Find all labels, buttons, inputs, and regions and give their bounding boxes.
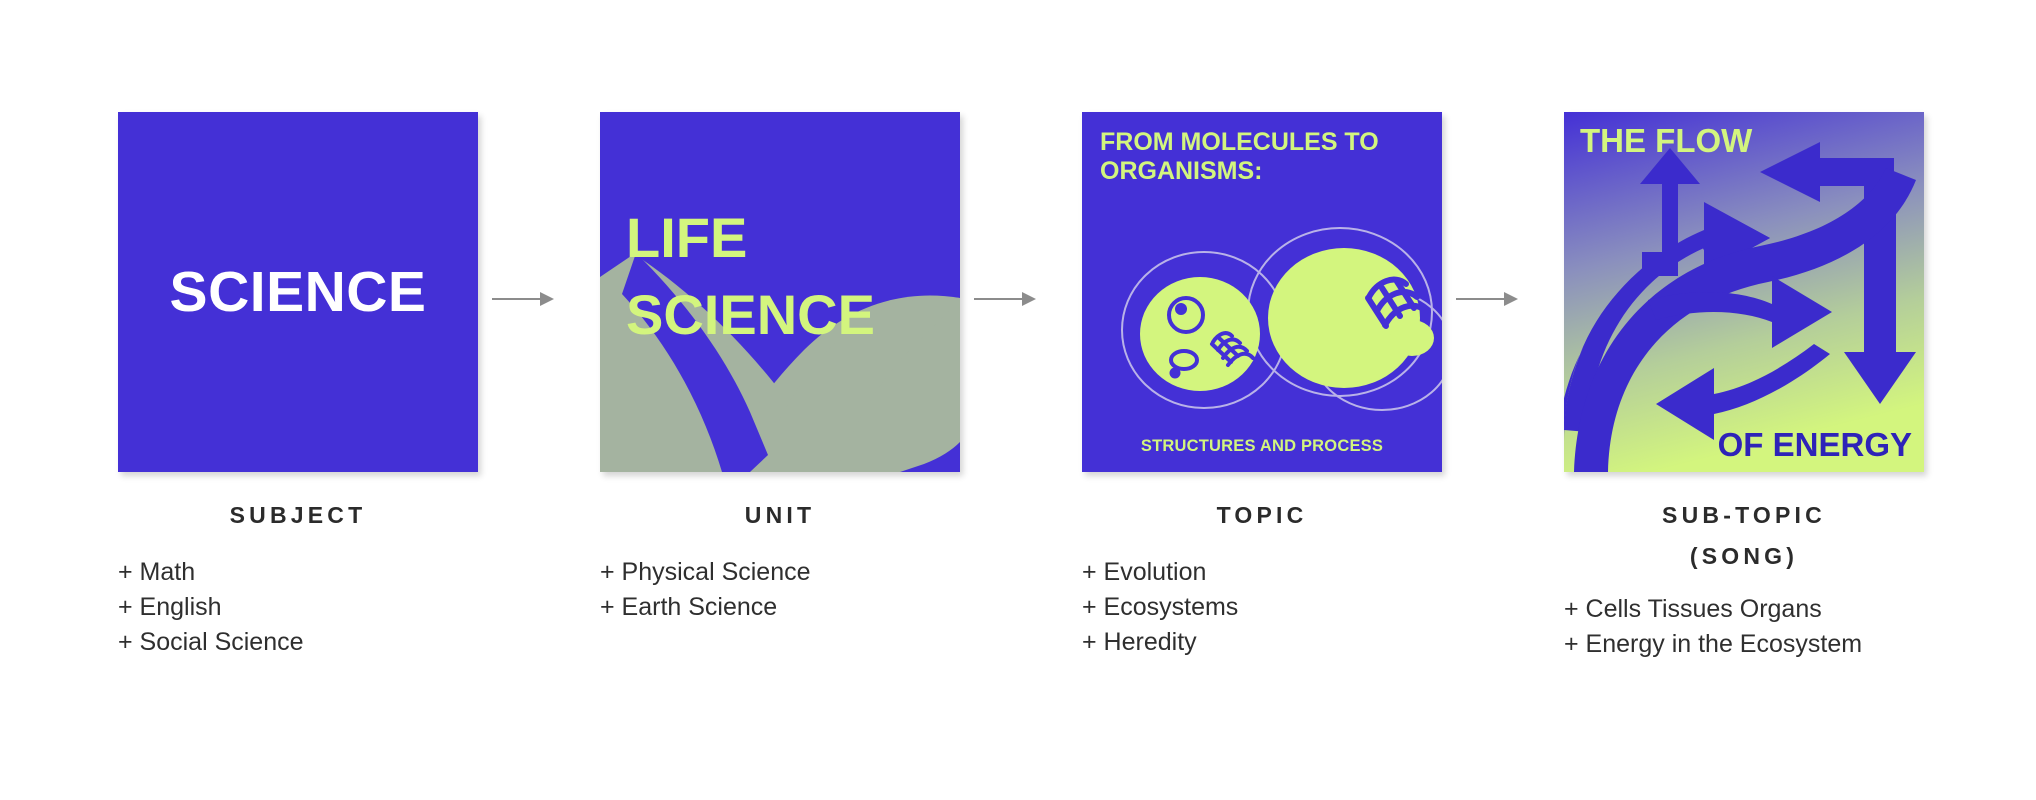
column-label-subtopic: SUB-TOPIC bbox=[1564, 502, 1924, 529]
arrow-shaft bbox=[492, 298, 542, 300]
card-unit[interactable]: LIFE SCIENCE bbox=[600, 112, 960, 472]
list-item: + Earth Science bbox=[600, 590, 960, 625]
list-item: + Cells Tissues Organs bbox=[1564, 592, 1924, 627]
arrow-shaft bbox=[1456, 298, 1506, 300]
column-unit: LIFE SCIENCE UNIT + Physical Science + E… bbox=[600, 112, 960, 625]
card-subtopic-title-bottom: OF ENERGY bbox=[1718, 426, 1912, 464]
card-subject[interactable]: SCIENCE bbox=[118, 112, 478, 472]
card-unit-title-line2: SCIENCE bbox=[626, 285, 956, 344]
card-subtopic-title-top: THE FLOW bbox=[1580, 122, 1752, 160]
list-item: + Heredity bbox=[1082, 625, 1442, 660]
list-subtopic: + Cells Tissues Organs + Energy in the E… bbox=[1564, 592, 1924, 662]
arrow-unit-to-topic bbox=[974, 292, 1036, 306]
card-topic-footer: STRUCTURES AND PROCESS bbox=[1082, 437, 1442, 456]
card-subject-title: SCIENCE bbox=[118, 259, 478, 325]
column-label-subtopic-line2: (SONG) bbox=[1564, 543, 1924, 570]
arrow-head-icon bbox=[540, 292, 554, 306]
hierarchy-flow: SCIENCE SUBJECT + Math + English + Socia… bbox=[0, 0, 2036, 800]
list-unit: + Physical Science + Earth Science bbox=[600, 555, 960, 625]
list-item: + Physical Science bbox=[600, 555, 960, 590]
card-unit-title-line1: LIFE bbox=[626, 208, 956, 267]
column-subtopic: THE FLOW OF ENERGY SUB-TOPIC (SONG) + Ce… bbox=[1564, 112, 1924, 662]
column-subject: SCIENCE SUBJECT + Math + English + Socia… bbox=[118, 112, 478, 660]
list-item: + English bbox=[118, 590, 478, 625]
arrow-subject-to-unit bbox=[492, 292, 554, 306]
column-label-topic: TOPIC bbox=[1082, 502, 1442, 529]
card-subtopic[interactable]: THE FLOW OF ENERGY bbox=[1564, 112, 1924, 472]
list-item: + Social Science bbox=[118, 625, 478, 660]
arrow-head-icon bbox=[1022, 292, 1036, 306]
column-label-subject: SUBJECT bbox=[118, 502, 478, 529]
energy-arrows-illustration-icon bbox=[1564, 112, 1924, 472]
list-item: + Math bbox=[118, 555, 478, 590]
column-label-unit: UNIT bbox=[600, 502, 960, 529]
arrow-head-icon bbox=[1504, 292, 1518, 306]
list-subject: + Math + English + Social Science bbox=[118, 555, 478, 660]
list-topic: + Evolution + Ecosystems + Heredity bbox=[1082, 555, 1442, 660]
list-item: + Energy in the Ecosystem bbox=[1564, 627, 1924, 662]
card-topic[interactable]: FROM MOLECULES TO ORGANISMS: STRUCTURES … bbox=[1082, 112, 1442, 472]
card-unit-title: LIFE SCIENCE bbox=[626, 208, 956, 345]
diagram-canvas: SCIENCE SUBJECT + Math + English + Socia… bbox=[0, 0, 2036, 800]
column-topic: FROM MOLECULES TO ORGANISMS: STRUCTURES … bbox=[1082, 112, 1442, 660]
list-item: + Ecosystems bbox=[1082, 590, 1442, 625]
arrow-topic-to-subtopic bbox=[1456, 292, 1518, 306]
arrow-shaft bbox=[974, 298, 1024, 300]
list-item: + Evolution bbox=[1082, 555, 1442, 590]
card-topic-title: FROM MOLECULES TO ORGANISMS: bbox=[1100, 128, 1430, 186]
